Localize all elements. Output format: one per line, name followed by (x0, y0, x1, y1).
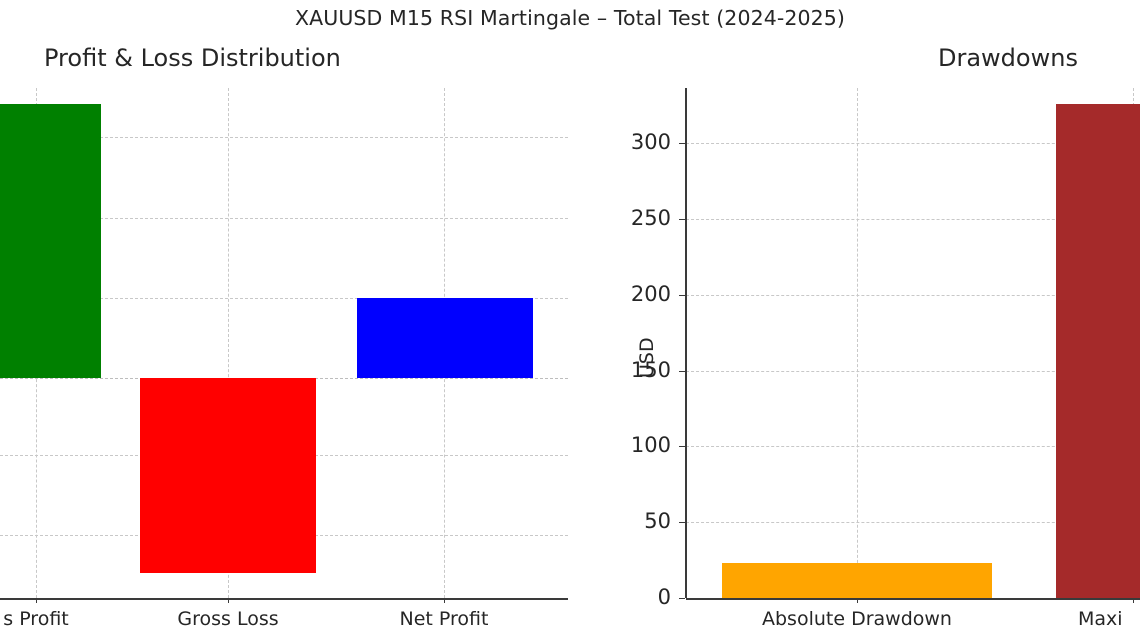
figure-suptitle: XAUUSD M15 RSI Martingale – Total Test (… (0, 6, 1140, 30)
bar-gross-profit (0, 104, 101, 378)
left-xtick (444, 598, 445, 603)
left-xtick (36, 598, 37, 603)
left-xticklabel-gross-loss: Gross Loss (128, 608, 328, 630)
right-yticklabel-0: 0 (595, 585, 671, 609)
left-x-axis-spine (0, 598, 568, 600)
left-xticklabel-gross-profit: s Profit (0, 608, 136, 630)
right-ytick (679, 446, 685, 447)
right-y-axis-spine (685, 88, 687, 598)
left-plot-area (0, 88, 568, 598)
right-yticklabel-50: 50 (595, 509, 671, 533)
right-xticklabel-maximal-drawdown: Maxi (1078, 608, 1140, 630)
right-xtick (857, 598, 858, 603)
right-ytick (679, 219, 685, 220)
right-ytick (679, 598, 685, 599)
right-yticklabel-200: 200 (595, 282, 671, 306)
right-ytick (679, 295, 685, 296)
figure-canvas: XAUUSD M15 RSI Martingale – Total Test (… (0, 0, 1140, 640)
right-ytick (679, 522, 685, 523)
left-panel-title: Profit & Loss Distribution (44, 44, 341, 72)
right-x-axis-spine (686, 598, 1140, 600)
right-ytick (679, 371, 685, 372)
right-vgridline (857, 88, 858, 598)
left-xtick (228, 598, 229, 603)
right-yticklabel-100: 100 (595, 433, 671, 457)
right-plot-area (686, 88, 1140, 598)
left-xticklabel-net-profit: Net Profit (344, 608, 544, 630)
right-yticklabel-150: 150 (595, 358, 671, 382)
right-yticklabel-300: 300 (595, 130, 671, 154)
right-panel-title: Drawdowns (938, 44, 1078, 72)
bar-net-profit (357, 298, 533, 378)
right-xtick (1133, 598, 1134, 603)
right-yticklabel-250: 250 (595, 206, 671, 230)
bar-gross-loss (140, 378, 316, 573)
right-y-axis-label: USD (636, 337, 658, 378)
right-xticklabel-absolute-drawdown: Absolute Drawdown (737, 608, 977, 630)
right-ytick (679, 143, 685, 144)
bar-absolute-drawdown (722, 563, 992, 598)
bar-maximal-drawdown (1056, 104, 1140, 598)
